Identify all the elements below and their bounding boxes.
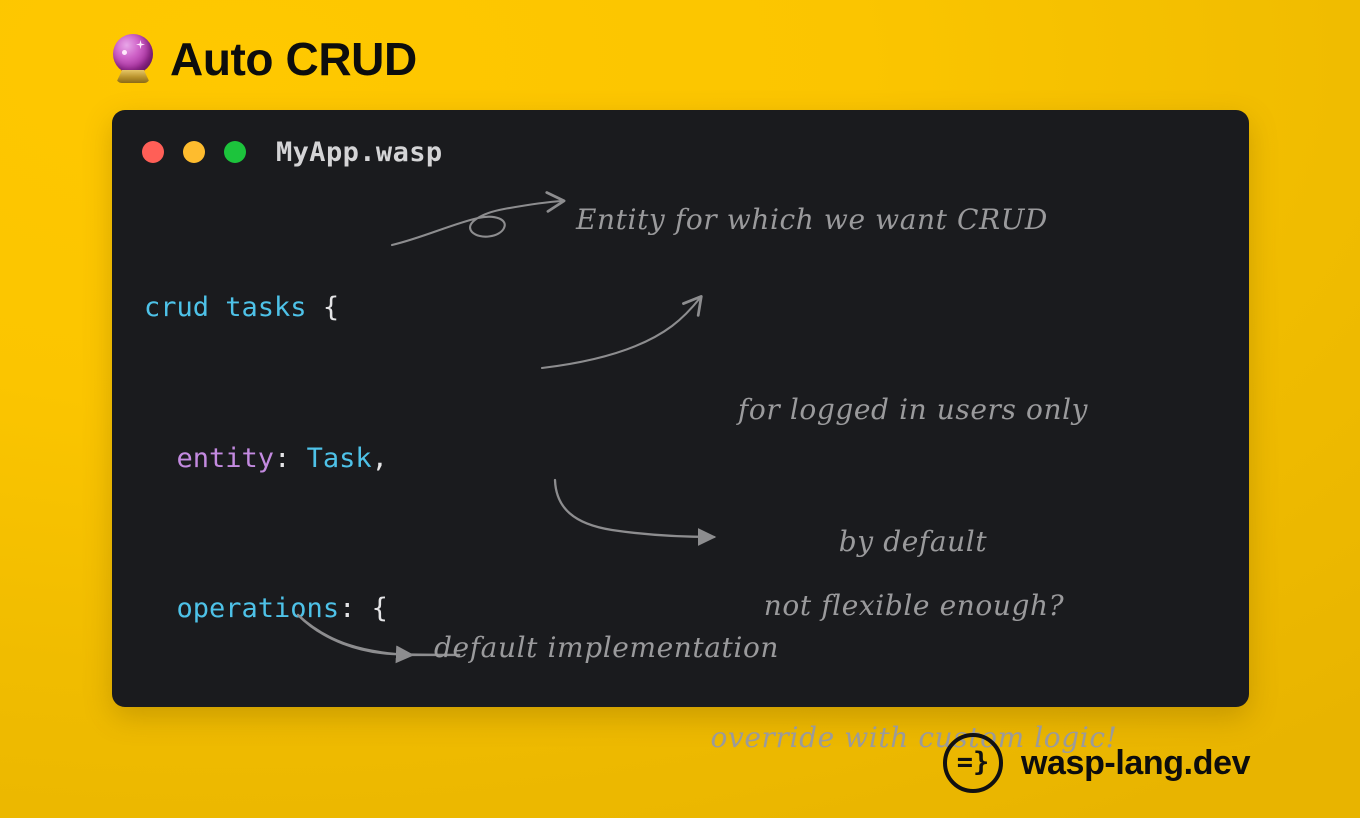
minimize-button[interactable] <box>183 141 205 163</box>
token-indent <box>144 593 177 624</box>
annotation-auth-line1: for logged in users only <box>722 388 1104 432</box>
annotation-entity: Entity for which we want CRUD <box>576 198 1048 242</box>
token-comma: , <box>372 443 388 474</box>
token-indent <box>144 443 177 474</box>
annotation-override-line1: not flexible enough? <box>700 584 1128 628</box>
footer-branding[interactable]: =} wasp-lang.dev <box>943 733 1250 793</box>
wasp-logo-icon: =} <box>943 733 1003 793</box>
token-colon: : <box>274 443 307 474</box>
annotation-default: default implementation <box>434 626 779 670</box>
wasp-logo-glyph: =} <box>957 749 990 776</box>
page-title: Auto CRUD <box>170 32 417 86</box>
token-rest: : { <box>339 593 388 624</box>
token-crud: crud <box>144 292 209 323</box>
token-operations-key: operations <box>177 593 340 624</box>
wasp-logo-text: wasp-lang.dev <box>1021 744 1250 783</box>
window-titlebar: MyApp.wasp <box>112 110 1249 194</box>
close-button[interactable] <box>142 141 164 163</box>
token-tasks: tasks <box>209 292 307 323</box>
token-brace: { <box>307 292 340 323</box>
token-task-value: Task <box>307 443 372 474</box>
token-entity-key: entity <box>177 443 275 474</box>
window-filename: MyApp.wasp <box>276 137 443 168</box>
page-header: Auto CRUD <box>110 24 417 94</box>
crystal-ball-icon <box>110 34 156 84</box>
maximize-button[interactable] <box>224 141 246 163</box>
